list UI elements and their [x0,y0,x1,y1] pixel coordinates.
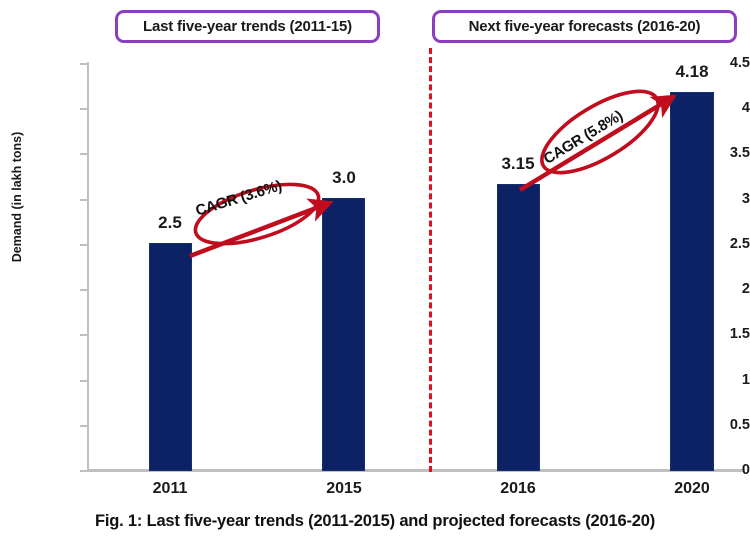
figure-caption: Fig. 1: Last five-year trends (2011-2015… [0,512,750,531]
y-tick-label-4.5: 4.5 [702,55,750,71]
cagr-arrow-right [520,100,668,190]
y-tick-mark-4 [80,108,88,110]
cagr-annotation-right-graphics [0,0,750,557]
y-tick-mark-1.5 [80,334,88,336]
x-tick-label-2011: 2011 [153,480,188,498]
y-tick-mark-1 [80,380,88,382]
y-tick-mark-2 [80,289,88,291]
panel-header-left: Last five-year trends (2011-15) [115,10,380,43]
cagr-label-right: CAGR (5.8%) [541,107,626,168]
x-tick-label-2020: 2020 [674,480,710,498]
y-tick-mark-0.5 [80,425,88,427]
bar-value-2020: 4.18 [675,62,708,82]
y-tick-mark-0 [80,470,88,472]
cagr-label-left: CAGR (3.6%) [194,177,284,219]
panel-header-right: Next five-year forecasts (2016-20) [432,10,737,43]
x-tick-label-2015: 2015 [326,480,362,498]
y-tick-mark-2.5 [80,244,88,246]
panel-header-left-label: Last five-year trends (2011-15) [143,18,352,35]
bar-value-2016: 3.15 [501,154,534,174]
bar-2020[interactable] [670,92,714,471]
bar-2011[interactable] [149,243,192,471]
panel-divider-dashed-line [429,48,432,472]
y-axis-line [87,62,89,471]
x-tick-label-2016: 2016 [500,480,536,498]
y-tick-mark-3 [80,199,88,201]
y-tick-mark-3.5 [80,153,88,155]
y-axis-title: Demand (in lakh tons) [10,92,24,302]
panel-header-right-label: Next five-year forecasts (2016-20) [469,18,701,35]
figure-container: Last five-year trends (2011-15) Next fiv… [0,0,750,557]
cagr-annotation-left-graphics [0,0,750,557]
y-tick-mark-4.5 [80,63,88,65]
bar-value-2015: 3.0 [332,168,356,188]
bar-value-2011: 2.5 [158,213,182,233]
bar-2015[interactable] [322,198,365,471]
bar-2016[interactable] [497,184,540,471]
